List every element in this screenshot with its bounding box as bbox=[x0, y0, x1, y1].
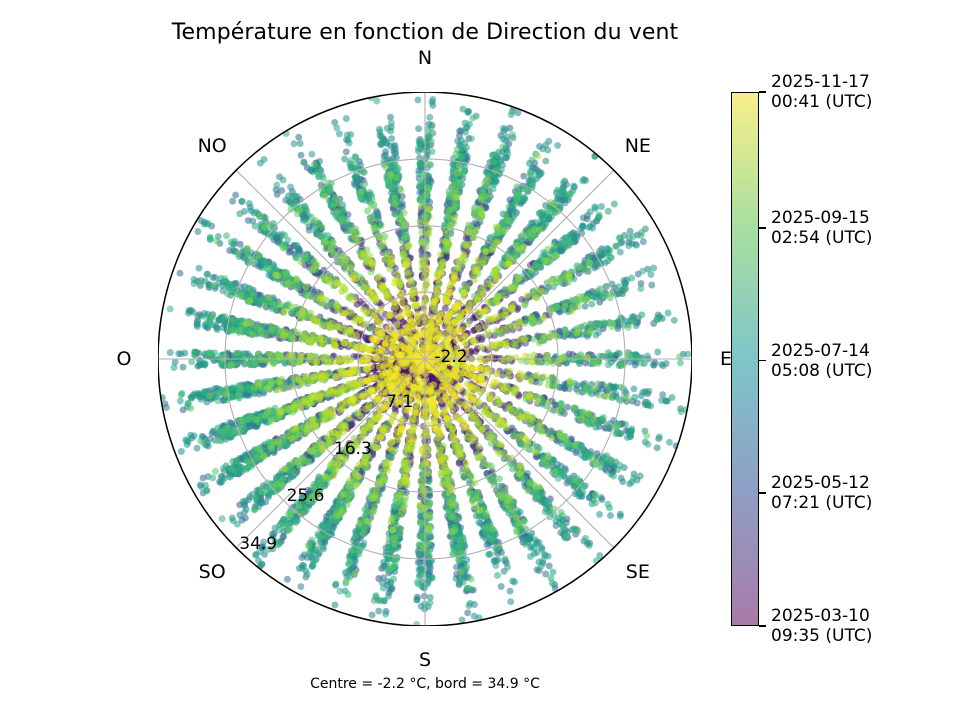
radial-tick-label: 34.9 bbox=[239, 534, 277, 554]
colorbar-tick-time: 00:41 (UTC) bbox=[771, 92, 941, 112]
colorbar-tick-label: 2025-05-1207:21 (UTC) bbox=[759, 473, 941, 513]
angular-tick-label-no: NO bbox=[198, 135, 227, 157]
figure-canvas: Température en fonction de Direction du … bbox=[0, 0, 960, 720]
radial-tick-label: -2.2 bbox=[434, 347, 467, 367]
angular-tick-label-so: SO bbox=[199, 561, 226, 583]
colorbar-tick-label: 2025-11-1700:41 (UTC) bbox=[759, 72, 941, 112]
radial-tick-label: 25.6 bbox=[287, 486, 325, 506]
colorbar-tick-label: 2025-07-1405:08 (UTC) bbox=[759, 341, 941, 381]
angular-tick-label-o: O bbox=[117, 348, 132, 370]
figure-caption: Centre = -2.2 °C, bord = 34.9 °C bbox=[0, 676, 850, 692]
colorbar-tick-time: 07:21 (UTC) bbox=[771, 493, 941, 513]
angular-tick-label-n: N bbox=[418, 47, 432, 69]
angular-tick-label-s: S bbox=[419, 649, 431, 671]
colorbar-tick-label: 2025-03-1009:35 (UTC) bbox=[759, 606, 941, 646]
colorbar-tick-date: 2025-05-12 bbox=[771, 473, 941, 493]
colorbar[interactable] bbox=[731, 92, 759, 626]
colorbar-tick-date: 2025-03-10 bbox=[771, 606, 941, 626]
colorbar-tick-date: 2025-11-17 bbox=[771, 72, 941, 92]
colorbar-tick-date: 2025-07-14 bbox=[771, 341, 941, 361]
polar-grid bbox=[158, 92, 692, 626]
angular-tick-label-se: SE bbox=[626, 561, 650, 583]
colorbar-tick-time: 09:35 (UTC) bbox=[771, 626, 941, 646]
colorbar-tick-date: 2025-09-15 bbox=[771, 208, 941, 228]
polar-scatter-svg bbox=[158, 92, 692, 626]
page-title: Température en fonction de Direction du … bbox=[0, 20, 850, 45]
angular-tick-label-ne: NE bbox=[625, 135, 651, 157]
colorbar-tick-time: 05:08 (UTC) bbox=[771, 361, 941, 381]
polar-axes[interactable]: NNEESESSOONO-2.27.116.325.634.9 bbox=[158, 92, 692, 626]
radial-tick-label: 16.3 bbox=[334, 439, 372, 459]
colorbar-tick-time: 02:54 (UTC) bbox=[771, 228, 941, 248]
radial-tick-label: 7.1 bbox=[386, 392, 413, 412]
colorbar-tick-label: 2025-09-1502:54 (UTC) bbox=[759, 208, 941, 248]
